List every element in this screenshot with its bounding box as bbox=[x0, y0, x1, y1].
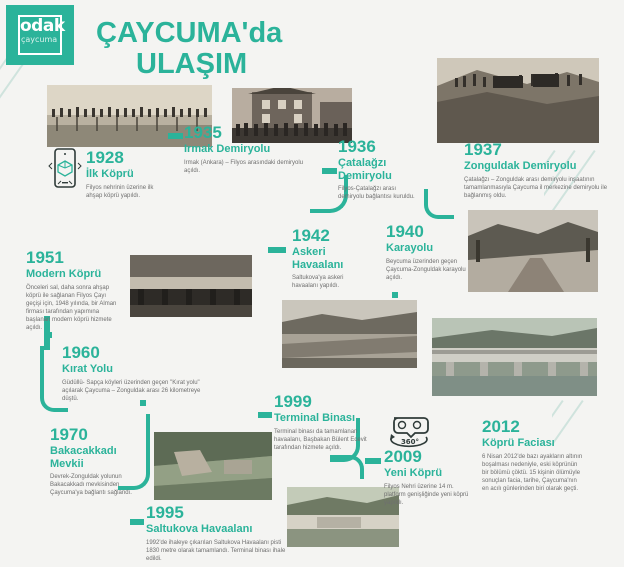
marker-dot-1940 bbox=[392, 292, 398, 298]
timeline-desc: Devrek-Zonguldak yolunun Bakacakkadı mev… bbox=[50, 473, 132, 497]
phone-3d-model-icon bbox=[48, 147, 82, 189]
timeline-item-saltukova-havaalani[interactable]: 1995 Saltukova Havaalanı 1992'de ihaleye… bbox=[146, 503, 286, 563]
photo-1951-modern-bridge bbox=[130, 255, 252, 317]
timeline-item-bakacakkadi-mevkii[interactable]: 1970 Bakacakkadı Mevkii Devrek-Zonguldak… bbox=[50, 425, 132, 497]
timeline-title: Köprü Faciası bbox=[482, 437, 584, 450]
timeline-desc: 1992'de ihaleye çıkarılan Saltukova Hava… bbox=[146, 539, 286, 563]
timeline-desc: 6 Nisan 2012'de bazı ayakların altının b… bbox=[482, 453, 584, 493]
timeline-year: 2009 bbox=[384, 447, 470, 466]
timeline-item-terminal-binasi[interactable]: 1999 Terminal Binası Terminal binası da … bbox=[274, 392, 384, 452]
photo-2009-new-bridge bbox=[432, 318, 597, 396]
timeline-desc: Irmak (Ankara) – Filyos arasındaki demir… bbox=[184, 159, 312, 175]
title-line-1: ÇAYCUMA'da bbox=[96, 18, 436, 49]
timeline-title: İlk Köprü bbox=[86, 168, 166, 181]
timeline-year: 1942 bbox=[292, 226, 364, 245]
timeline-desc: Filyos nehrinin üzerine ilk ahşap köprü … bbox=[86, 184, 166, 200]
timeline-title: Karayolu bbox=[386, 242, 468, 255]
connector-1942 bbox=[268, 247, 286, 253]
timeline-year: 1940 bbox=[386, 222, 468, 241]
timeline-year: 1937 bbox=[464, 140, 612, 159]
timeline-title: Saltukova Havaalanı bbox=[146, 523, 286, 536]
timeline-year: 1951 bbox=[26, 248, 122, 267]
timeline-item-catalagzi-demiryolu[interactable]: 1936 Çatalağzı Demiryolu Filyos-Çatalağz… bbox=[338, 137, 420, 201]
connector-1935 bbox=[168, 133, 183, 139]
timeline-desc: Saltukova'ya askeri havaalanı yapıldı. bbox=[292, 274, 364, 290]
logo-subtitle: çaycuma bbox=[21, 36, 57, 44]
timeline-year: 1928 bbox=[86, 148, 166, 167]
photo-1940-road bbox=[468, 210, 598, 292]
timeline-title: Irmak Demiryolu bbox=[184, 143, 312, 156]
svg-text:360°: 360° bbox=[401, 438, 419, 446]
timeline-title: Bakacakkadı Mevkii bbox=[50, 445, 132, 470]
timeline-title: Askeri Havaalanı bbox=[292, 246, 364, 271]
timeline-item-yeni-kopru[interactable]: 2009 Yeni Köprü Filyos Nehri üzerine 14 … bbox=[384, 447, 470, 507]
timeline-desc: Terminal binası da tamamlanan havaalanı,… bbox=[274, 428, 384, 452]
vr-360-icon: 360° bbox=[386, 404, 432, 448]
timeline-item-ilk-kopru[interactable]: 1928 İlk Köprü Filyos nehrinin üzerine i… bbox=[86, 148, 166, 200]
timeline-item-zonguldak-demiryolu[interactable]: 1937 Zonguldak Demiryolu Çatalağzı – Zon… bbox=[464, 140, 612, 200]
page-title: ÇAYCUMA'da ULAŞIM bbox=[96, 18, 436, 80]
curve-1937-1940 bbox=[424, 189, 454, 219]
timeline-item-karayolu[interactable]: 1940 Karayolu Beycuma üzerinden geçen Ça… bbox=[386, 222, 468, 282]
timeline-year: 1935 bbox=[184, 123, 312, 142]
photo-1995-terminal bbox=[287, 487, 399, 547]
title-line-2: ULAŞIM bbox=[96, 49, 436, 80]
timeline-desc: Filyos-Çatalağzı arası demiryolu bağlant… bbox=[338, 185, 420, 201]
photo-1970-aerial bbox=[154, 432, 272, 500]
timeline-desc: Çatalağzı – Zonguldak arası demiryolu in… bbox=[464, 176, 612, 200]
timeline-year: 1999 bbox=[274, 392, 384, 411]
timeline-year: 1995 bbox=[146, 503, 286, 522]
timeline-item-askeri-havaalani[interactable]: 1942 Askeri Havaalanı Saltukova'ya asker… bbox=[292, 226, 364, 290]
timeline-desc: Filyos Nehri üzerine 14 m. platform geni… bbox=[384, 483, 470, 507]
timeline-desc: Önceleri sal, daha sonra ahşap köprü ile… bbox=[26, 284, 122, 332]
logo-wordmark: odak bbox=[20, 18, 65, 35]
infographic-canvas: odak çaycuma ÇAYCUMA'da ULAŞIM bbox=[0, 0, 624, 567]
brand-logo: odak çaycuma bbox=[6, 5, 74, 65]
connector-1999 bbox=[258, 412, 272, 418]
timeline-year: 1970 bbox=[50, 425, 132, 444]
curve-1999-tail bbox=[330, 455, 364, 479]
timeline-item-kirat-yolu[interactable]: 1960 Kırat Yolu Güdüllü- Sapça köyleri ü… bbox=[62, 343, 202, 403]
timeline-title: Yeni Köprü bbox=[384, 467, 470, 480]
connector-1936 bbox=[322, 168, 337, 174]
timeline-title: Çatalağzı Demiryolu bbox=[338, 157, 420, 182]
connector-2009 bbox=[365, 458, 381, 464]
connector-1995 bbox=[130, 519, 144, 525]
timeline-title: Modern Köprü bbox=[26, 268, 122, 281]
timeline-desc: Beycuma üzerinden geçen Çaycuma-Zongulda… bbox=[386, 258, 468, 282]
photo-1937-railway-construction bbox=[437, 58, 599, 143]
timeline-desc: Güdüllü- Sapça köyleri üzerinden geçen "… bbox=[62, 379, 202, 403]
timeline-title: Kırat Yolu bbox=[62, 363, 202, 376]
timeline-title: Terminal Binası bbox=[274, 412, 384, 425]
photo-1942-airfield bbox=[282, 300, 417, 368]
timeline-item-kopru-faciasi[interactable]: 2012 Köprü Faciası 6 Nisan 2012'de bazı … bbox=[482, 417, 584, 493]
timeline-year: 1936 bbox=[338, 137, 420, 156]
timeline-item-modern-kopru[interactable]: 1951 Modern Köprü Önceleri sal, daha son… bbox=[26, 248, 122, 332]
timeline-year: 1960 bbox=[62, 343, 202, 362]
timeline-year: 2012 bbox=[482, 417, 584, 436]
timeline-title: Zonguldak Demiryolu bbox=[464, 160, 612, 173]
timeline-item-irmak-demiryolu[interactable]: 1935 Irmak Demiryolu Irmak (Ankara) – Fi… bbox=[184, 123, 312, 175]
marker-dot-1951 bbox=[46, 332, 52, 338]
